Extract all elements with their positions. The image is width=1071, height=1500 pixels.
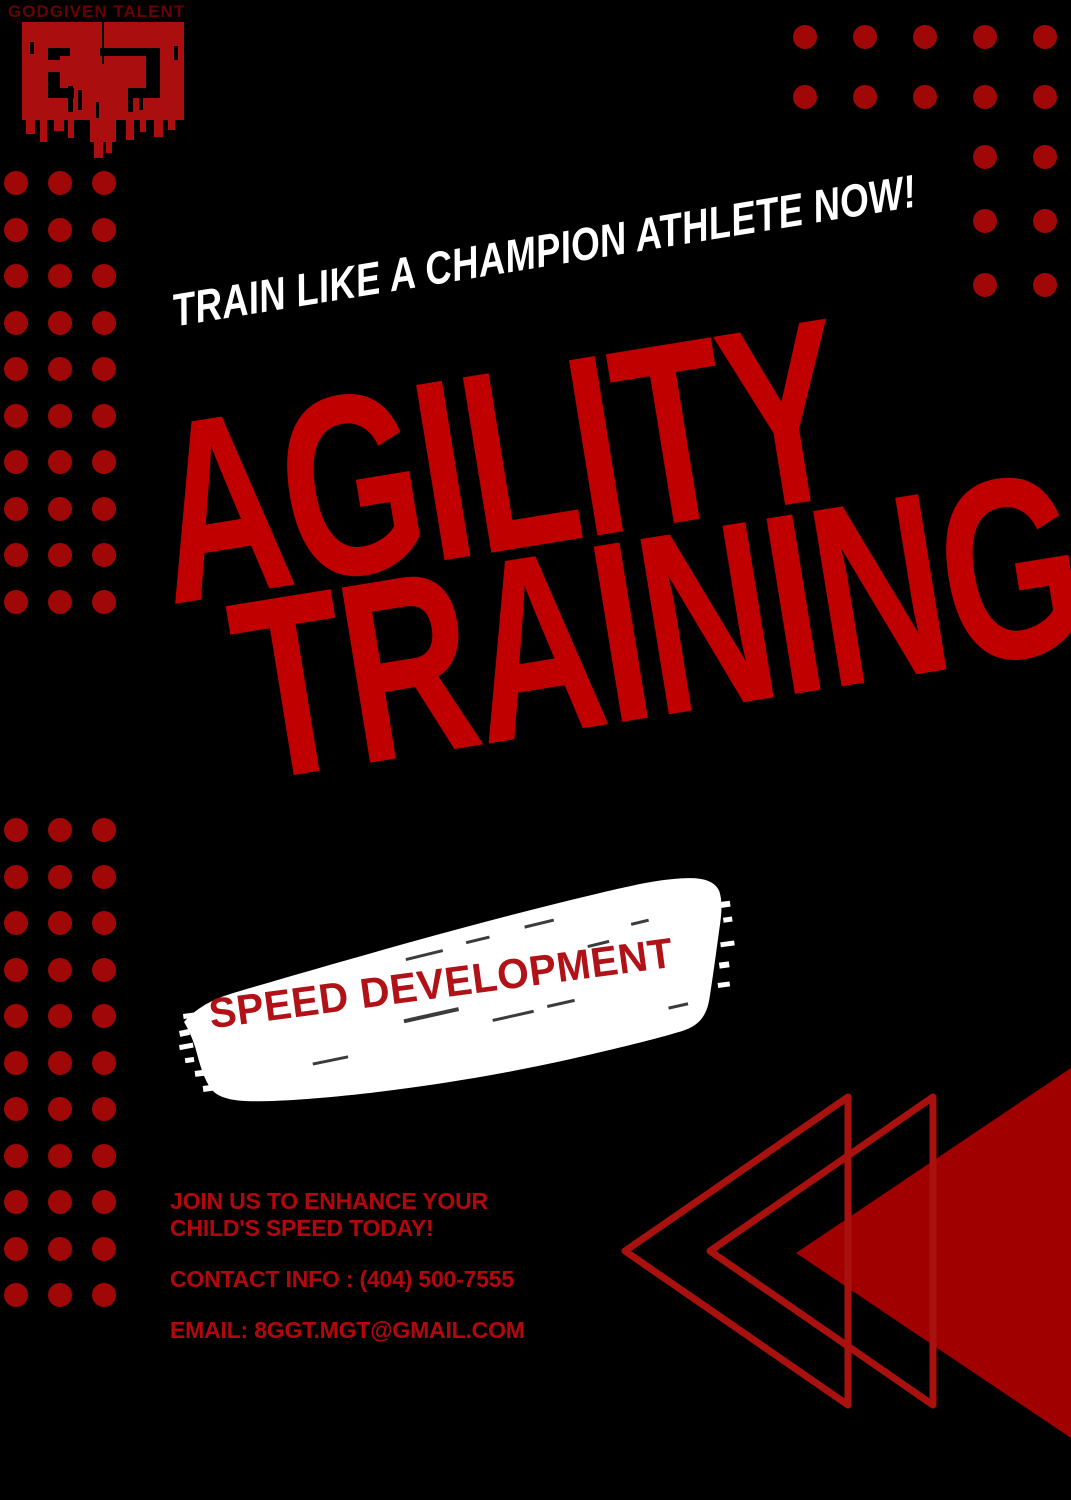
decorative-dot (4, 543, 28, 567)
decorative-dot (793, 85, 817, 109)
decorative-dot (92, 311, 116, 335)
decorative-dot (92, 1097, 116, 1121)
decorative-dot (913, 25, 937, 49)
decorative-dot (92, 497, 116, 521)
decorative-dot (4, 865, 28, 889)
decorative-dot (48, 865, 72, 889)
decorative-dot (48, 1190, 72, 1214)
decorative-dot (92, 404, 116, 428)
decorative-dot (92, 1283, 116, 1307)
decorative-dot (92, 1004, 116, 1028)
decorative-dot (973, 273, 997, 297)
headline-block: AGILITY TRAINING (140, 281, 1032, 805)
decorative-dot (92, 865, 116, 889)
cta-line-2: CHILD'S SPEED TODAY! (170, 1215, 640, 1242)
decorative-dot (92, 1190, 116, 1214)
decorative-dot (4, 958, 28, 982)
decorative-dot (4, 404, 28, 428)
decorative-dot (4, 450, 28, 474)
decorative-dot (48, 264, 72, 288)
decorative-dot (48, 357, 72, 381)
decorative-dot (853, 85, 877, 109)
decorative-dot (92, 1144, 116, 1168)
decorative-dot (4, 1190, 28, 1214)
contact-phone-line[interactable]: CONTACT INFO : (404) 500-7555 (170, 1266, 640, 1293)
decorative-dot (973, 209, 997, 233)
decorative-dot (92, 264, 116, 288)
decorative-dot (1033, 209, 1057, 233)
decorative-dot (4, 1097, 28, 1121)
cta-line-1: JOIN US TO ENHANCE YOUR (170, 1188, 640, 1215)
decorative-dot (4, 171, 28, 195)
decorative-dot (4, 264, 28, 288)
decorative-dot (92, 543, 116, 567)
decorative-dot (92, 818, 116, 842)
decorative-dot (92, 450, 116, 474)
decorative-dot (4, 1051, 28, 1075)
decorative-dot (48, 404, 72, 428)
decorative-dot (1033, 145, 1057, 169)
decorative-dot (853, 25, 877, 49)
decorative-dot (4, 1144, 28, 1168)
decorative-dot (48, 818, 72, 842)
decorative-dot (48, 171, 72, 195)
decorative-dot (4, 818, 28, 842)
decorative-dot (4, 911, 28, 935)
contact-block: JOIN US TO ENHANCE YOUR CHILD'S SPEED TO… (170, 1188, 640, 1344)
decorative-dot (92, 958, 116, 982)
decorative-dot (92, 171, 116, 195)
headline-line-training: TRAINING (221, 504, 799, 796)
decorative-dot (48, 450, 72, 474)
decorative-dot (4, 357, 28, 381)
decorative-dot (92, 357, 116, 381)
decorative-dot (4, 1283, 28, 1307)
decorative-dot (1033, 273, 1057, 297)
ggt-monogram-logo-icon (8, 2, 198, 162)
decorative-dot (48, 1144, 72, 1168)
decorative-dot (1033, 25, 1057, 49)
decorative-dot (48, 1051, 72, 1075)
decorative-dot (48, 911, 72, 935)
decorative-dot (48, 218, 72, 242)
poster-canvas: GODGIVEN TALENT (0, 0, 1071, 1500)
contact-email-line[interactable]: EMAIL: 8GGT.MGT@GMAIL.COM (170, 1317, 640, 1344)
decorative-dot (913, 85, 937, 109)
decorative-dot (973, 85, 997, 109)
decorative-dot (4, 590, 28, 614)
decorative-dot (4, 1004, 28, 1028)
decorative-dot (973, 25, 997, 49)
decorative-dot (4, 218, 28, 242)
decorative-dot (48, 1283, 72, 1307)
decorative-dot (48, 1097, 72, 1121)
decorative-dot (48, 543, 72, 567)
decorative-dot (48, 497, 72, 521)
decorative-dot (92, 218, 116, 242)
decorative-dot (793, 25, 817, 49)
decorative-dot (92, 590, 116, 614)
triple-chevron-left-arrows-icon (600, 1040, 1071, 1500)
decorative-dot (48, 311, 72, 335)
decorative-dot (4, 497, 28, 521)
decorative-dot (48, 1004, 72, 1028)
decorative-dot (48, 1237, 72, 1261)
decorative-dot (48, 958, 72, 982)
decorative-dot (92, 911, 116, 935)
decorative-dot (973, 145, 997, 169)
decorative-dot (4, 311, 28, 335)
decorative-dot (92, 1051, 116, 1075)
decorative-dot (1033, 85, 1057, 109)
decorative-dot (4, 1237, 28, 1261)
decorative-dot (92, 1237, 116, 1261)
decorative-dot (48, 590, 72, 614)
